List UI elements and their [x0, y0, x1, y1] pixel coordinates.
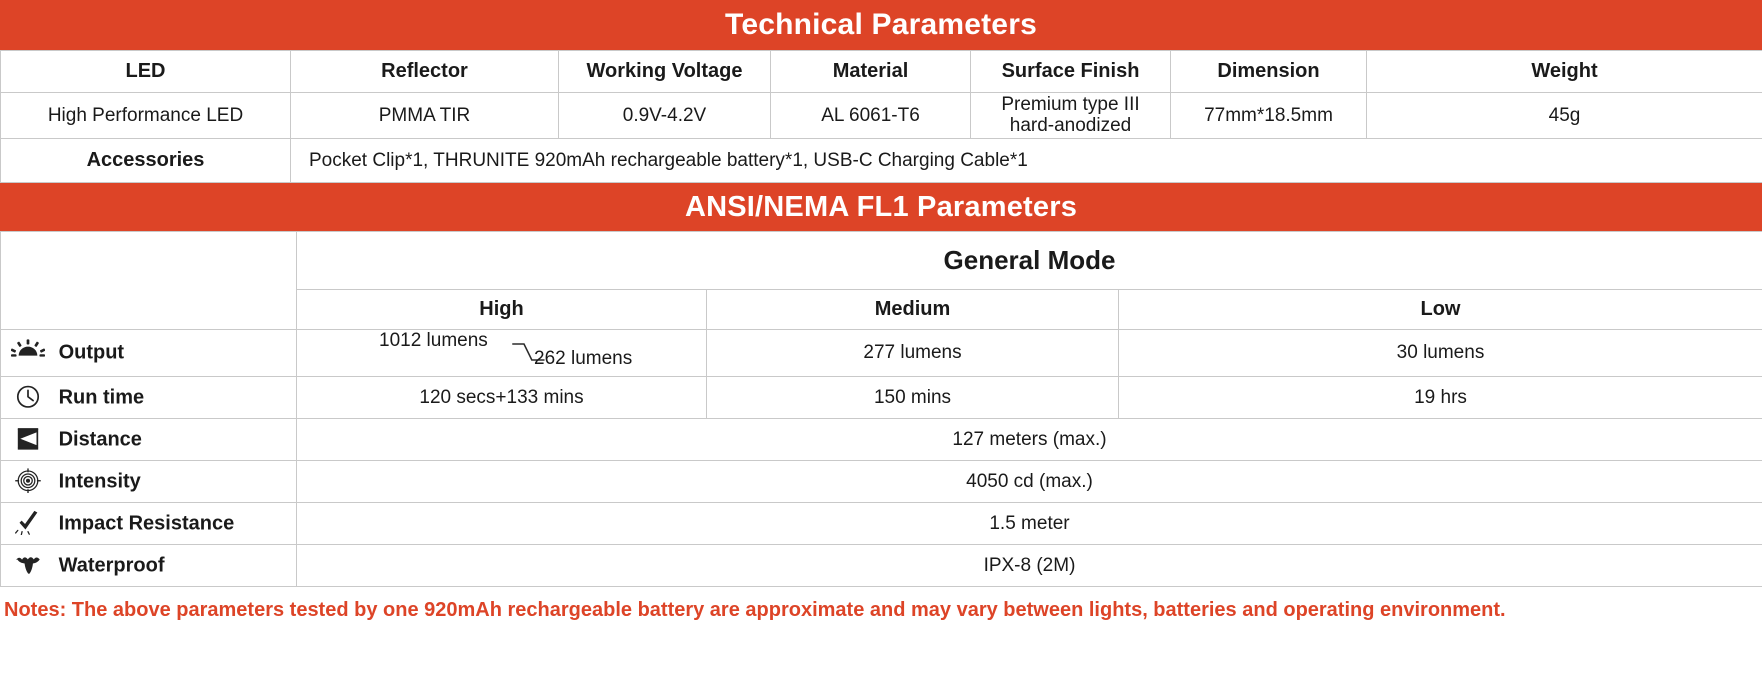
technical-parameters-table: LED Reflector Working Voltage Material S… — [0, 50, 1762, 183]
waterproof-value-cell: IPX-8 (2M) — [297, 545, 1762, 587]
technical-parameters-title: Technical Parameters — [0, 0, 1762, 50]
ansi-parameters-table: General Mode High Medium Low — [0, 231, 1762, 587]
beam-distance-icon — [11, 426, 45, 452]
row-label-text: Intensity — [59, 470, 141, 492]
notes-text: Notes: The above parameters tested by on… — [0, 587, 1762, 622]
ansi-corner-cell — [1, 232, 297, 330]
tech-value-working-voltage: 0.9V-4.2V — [559, 93, 771, 139]
table-row: Waterproof IPX-8 (2M) — [1, 545, 1762, 587]
output-medium-cell: 277 lumens — [707, 330, 1119, 377]
row-label-output: Output — [1, 330, 297, 377]
tech-value-row: High Performance LED PMMA TIR 0.9V-4.2V … — [1, 93, 1762, 139]
accessories-value: Pocket Clip*1, THRUNITE 920mAh rechargea… — [291, 139, 1762, 183]
runtime-low-cell: 19 hrs — [1119, 377, 1762, 419]
target-intensity-icon — [11, 468, 45, 494]
impact-resistance-value-cell: 1.5 meter — [297, 503, 1762, 545]
row-label-text: Output — [59, 342, 125, 364]
tech-header-weight: Weight — [1367, 51, 1762, 93]
surface-finish-line-2: hard-anodized — [975, 116, 1166, 137]
row-label-run-time: Run time — [1, 377, 297, 419]
table-row: Impact Resistance 1.5 meter — [1, 503, 1762, 545]
row-label-text: Run time — [59, 386, 145, 408]
runtime-high-cell: 120 secs+133 mins — [297, 377, 707, 419]
spec-sheet: Technical Parameters LED Reflector Worki… — [0, 0, 1762, 700]
table-row: Intensity 4050 cd (max.) — [1, 461, 1762, 503]
output-low-cell: 30 lumens — [1119, 330, 1762, 377]
tech-header-working-voltage: Working Voltage — [559, 51, 771, 93]
table-row: Distance 127 meters (max.) — [1, 419, 1762, 461]
mode-header-high: High — [297, 290, 707, 330]
tech-value-led: High Performance LED — [1, 93, 291, 139]
accessories-label: Accessories — [1, 139, 291, 183]
intensity-value-cell: 4050 cd (max.) — [297, 461, 1762, 503]
tech-value-dimension: 77mm*18.5mm — [1171, 93, 1367, 139]
row-label-waterproof: Waterproof — [1, 545, 297, 587]
tech-value-weight: 45g — [1367, 93, 1762, 139]
tech-header-led: LED — [1, 51, 291, 93]
row-label-distance: Distance — [1, 419, 297, 461]
stepdown-connector-icon — [301, 332, 702, 374]
tech-header-dimension: Dimension — [1171, 51, 1367, 93]
tech-value-material: AL 6061-T6 — [771, 93, 971, 139]
impact-check-icon — [11, 510, 45, 536]
accessories-row: Accessories Pocket Clip*1, THRUNITE 920m… — [1, 139, 1762, 183]
row-label-text: Waterproof — [59, 554, 165, 576]
row-label-text: Distance — [59, 428, 142, 450]
general-mode-title: General Mode — [297, 232, 1762, 290]
tech-header-surface-finish: Surface Finish — [971, 51, 1171, 93]
output-stepdown-group: 1012 lumens 262 lumens — [301, 332, 702, 374]
mode-header-low: Low — [1119, 290, 1762, 330]
sunburst-icon — [11, 339, 45, 365]
tech-header-material: Material — [771, 51, 971, 93]
table-row: Output 1012 lumens 262 lumens 277 lumens… — [1, 330, 1762, 377]
output-high-stepdown: 262 lumens — [534, 348, 632, 370]
clock-icon — [11, 384, 45, 410]
water-splash-icon — [11, 552, 45, 578]
row-label-text: Impact Resistance — [59, 512, 235, 534]
runtime-medium-cell: 150 mins — [707, 377, 1119, 419]
mode-header-medium: Medium — [707, 290, 1119, 330]
tech-value-surface-finish: Premium type III hard-anodized — [971, 93, 1171, 139]
ansi-parameters-title: ANSI/NEMA FL1 Parameters — [0, 183, 1762, 231]
tech-header-row: LED Reflector Working Voltage Material S… — [1, 51, 1762, 93]
row-label-intensity: Intensity — [1, 461, 297, 503]
distance-value-cell: 127 meters (max.) — [297, 419, 1762, 461]
surface-finish-line-1: Premium type III — [975, 95, 1166, 116]
tech-value-reflector: PMMA TIR — [291, 93, 559, 139]
tech-header-reflector: Reflector — [291, 51, 559, 93]
output-high-cell: 1012 lumens 262 lumens — [297, 330, 707, 377]
table-row: Run time 120 secs+133 mins 150 mins 19 h… — [1, 377, 1762, 419]
general-mode-row: General Mode — [1, 232, 1762, 290]
row-label-impact-resistance: Impact Resistance — [1, 503, 297, 545]
